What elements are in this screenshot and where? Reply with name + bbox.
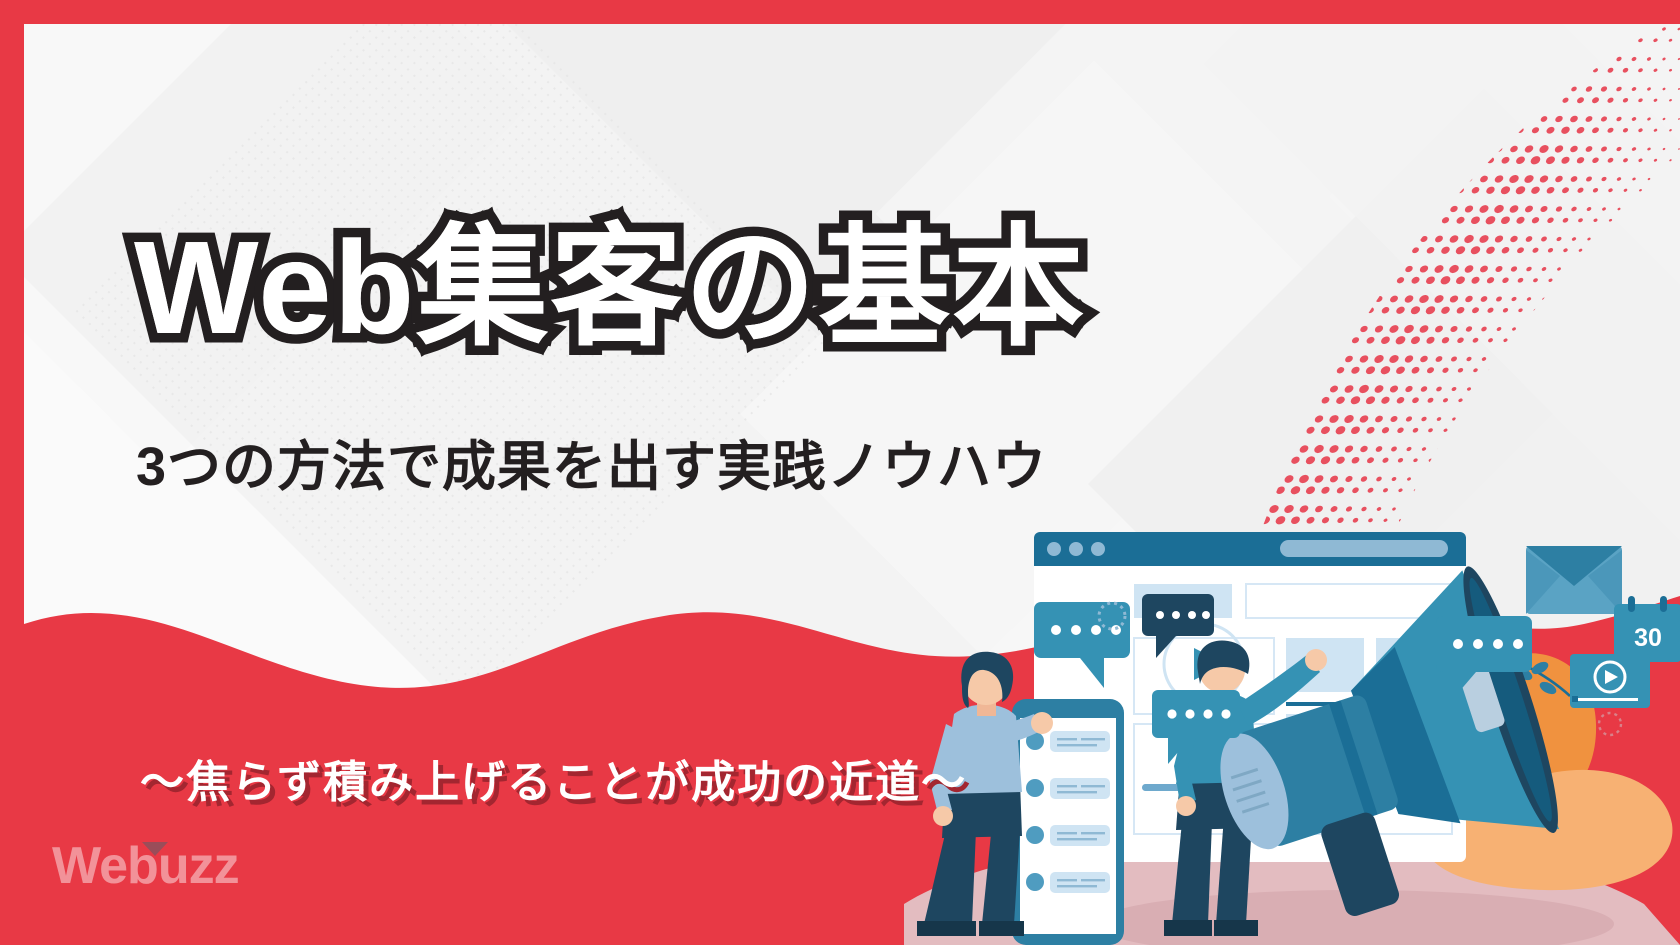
shoe: [1164, 920, 1212, 936]
ground-shape: [904, 835, 1680, 945]
neck: [1212, 688, 1232, 706]
chat-row: [1026, 872, 1110, 893]
shoe: [917, 921, 976, 936]
megaphone-back: [1207, 725, 1301, 858]
shoe: [1214, 920, 1258, 936]
chat-row: [1026, 778, 1110, 799]
avatar: [1026, 732, 1044, 750]
video-progress-fill: [1142, 784, 1260, 791]
avatar: [1026, 873, 1044, 891]
megaphone-handle: [1319, 810, 1402, 919]
torso: [1176, 692, 1258, 784]
content-panel: 30: [24, 24, 1680, 945]
shoe: [979, 921, 1024, 936]
chat-bubble: [1050, 825, 1110, 846]
arm-back: [1174, 710, 1202, 804]
chat-bubble: [1050, 778, 1110, 799]
hand: [1176, 796, 1196, 816]
page-subtitle: 3つの方法で成果を出す実践ノウハウ: [136, 422, 1047, 501]
arm: [950, 714, 1042, 747]
neck: [977, 700, 996, 716]
chat-bubble-icon: [1152, 690, 1240, 764]
leg: [982, 824, 1020, 924]
leg: [924, 830, 976, 924]
megaphone-grill: [1229, 769, 1269, 813]
chat-row: [1026, 825, 1110, 846]
leg: [1216, 816, 1252, 924]
leg: [1172, 822, 1212, 924]
page-tagline: 〜焦らず積み上げることが成功の近道〜: [140, 746, 967, 810]
hip: [1176, 772, 1256, 830]
avatar: [1026, 779, 1044, 797]
logo-arrow-icon: [142, 842, 168, 856]
avatar: [1026, 826, 1044, 844]
banner-canvas: 30: [0, 0, 1680, 945]
page-title: Web集客の基本: [134, 217, 1086, 360]
chat-bubble: [1050, 872, 1110, 893]
ground-shadow: [1094, 890, 1614, 945]
